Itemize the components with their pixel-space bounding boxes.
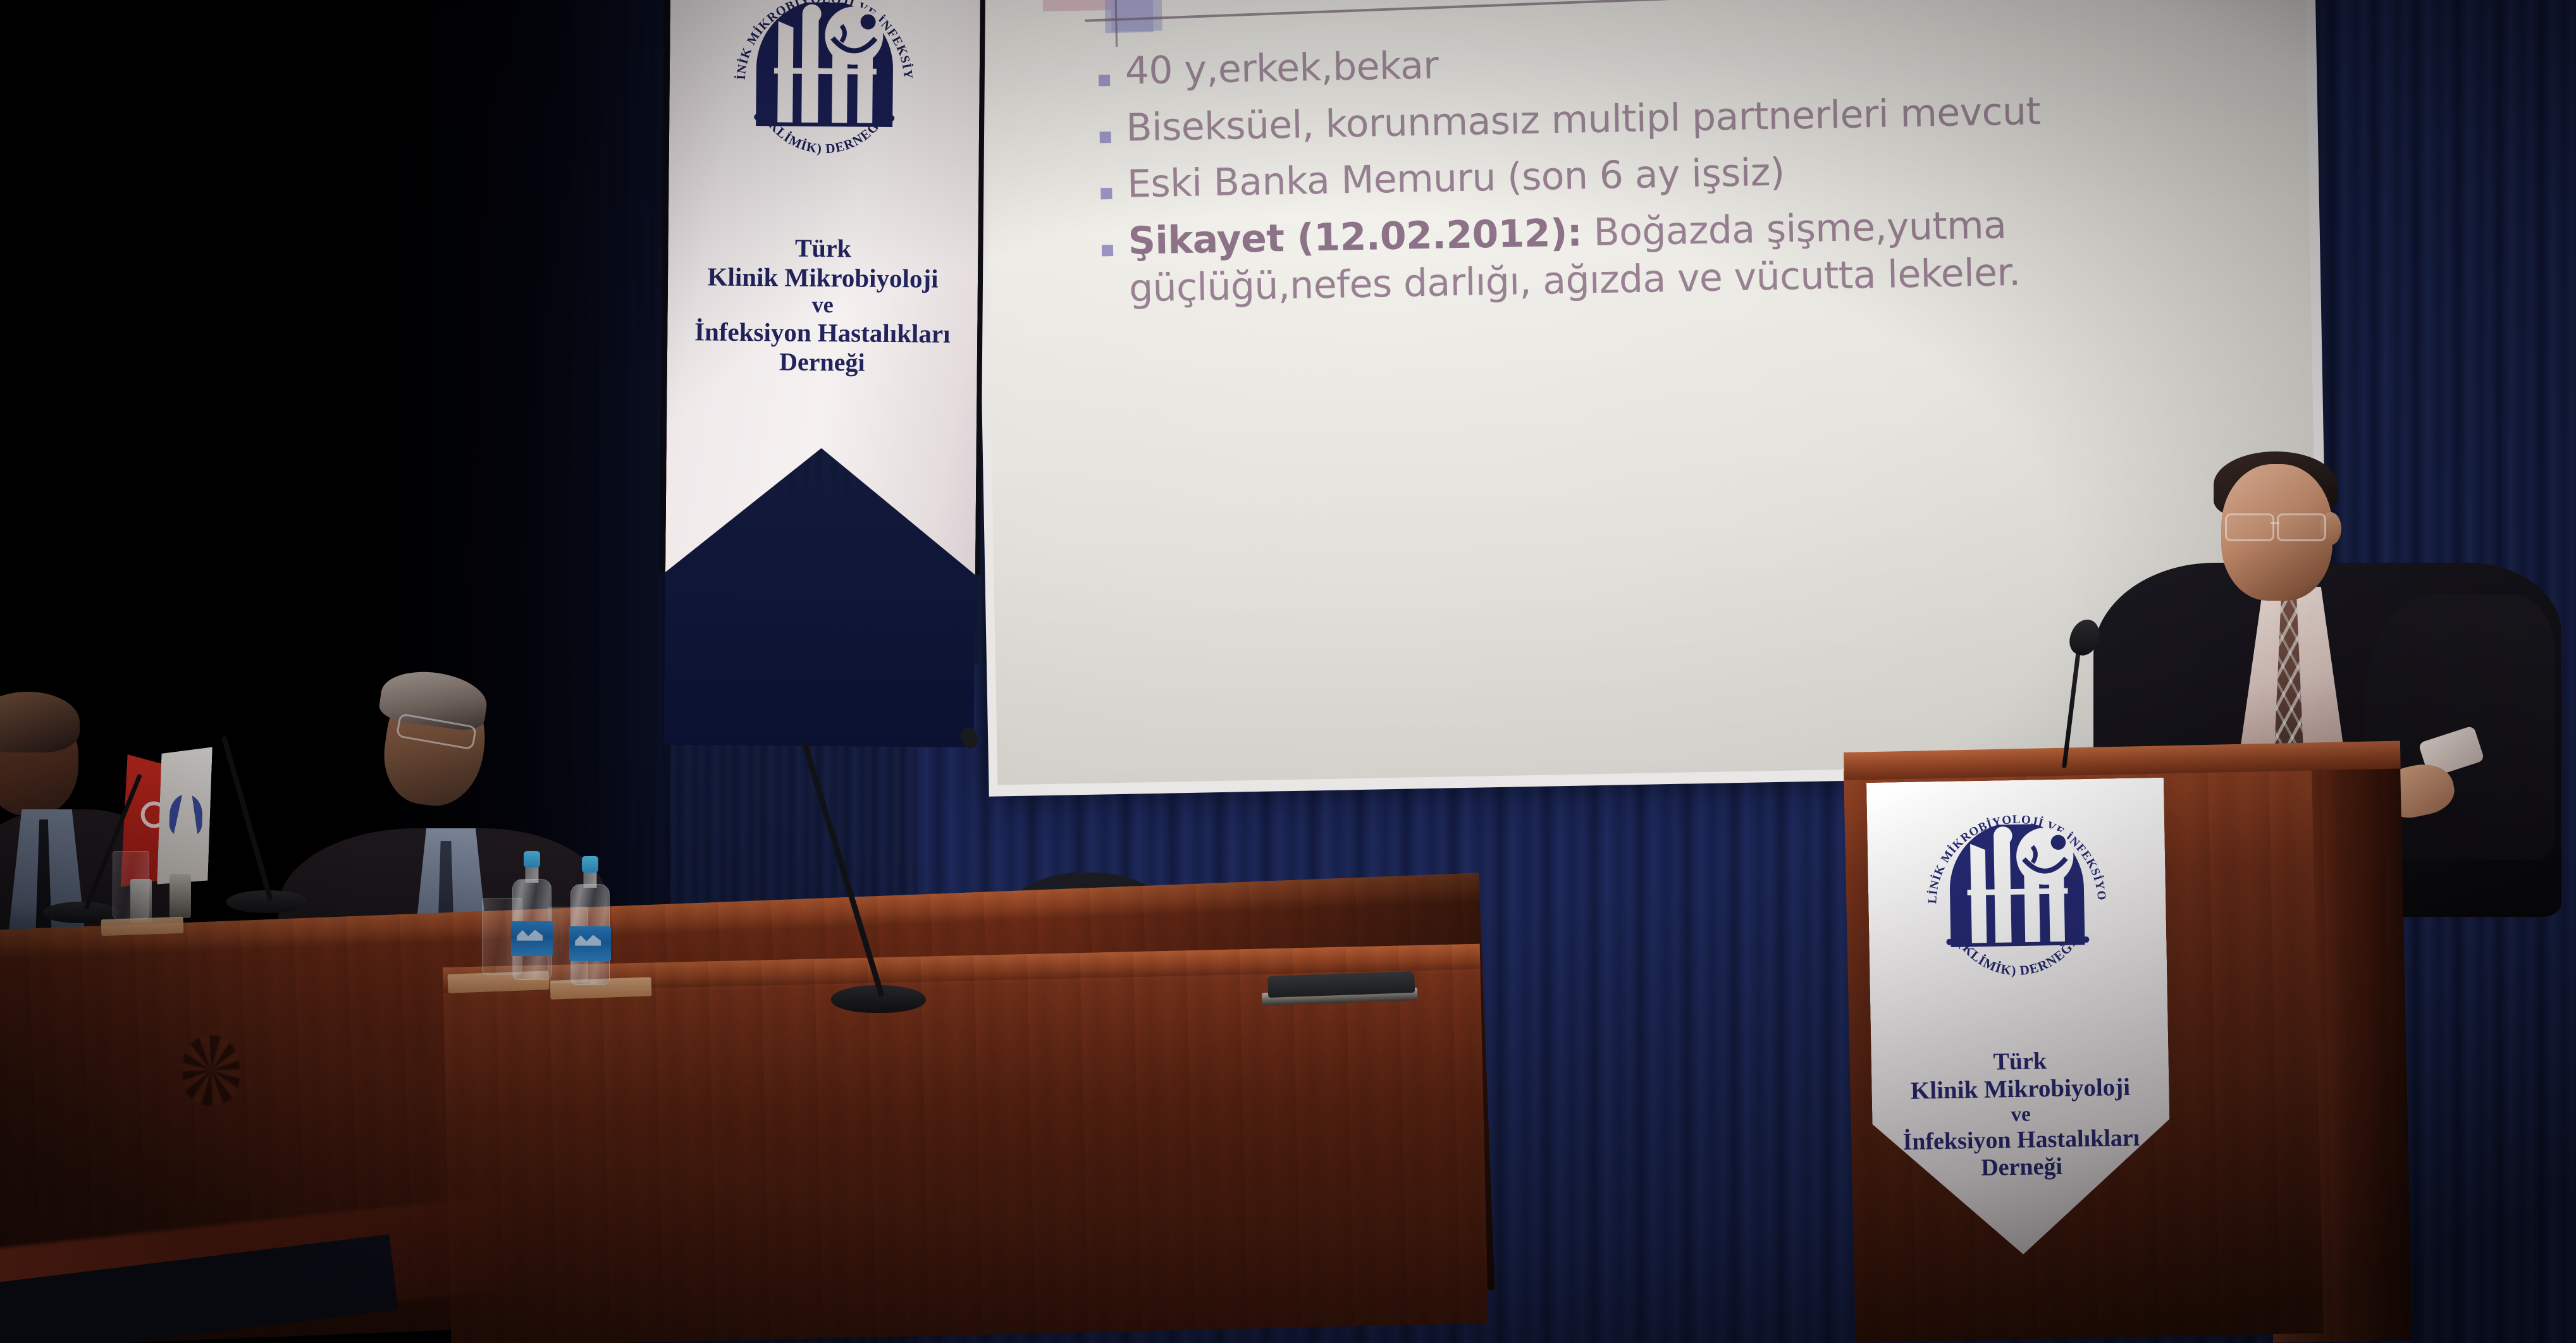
rollup-title-line-4: İnfeksiyon Hastalıkları [667,317,977,349]
closed-laptop[interactable] [1261,971,1419,1010]
speaker-glasses-icon [2225,513,2331,537]
slide-bullet-text-emphasized: Şikayet (12.02.2012): Boğazda şişme,yutm… [1128,197,2279,313]
bullet-square-icon [1099,75,1110,86]
klimik-flag-logo-icon [169,794,203,837]
slide-bullet-text: 40 y,erkek,bekar [1125,27,2275,95]
podium-title-line-4: İnfeksiyon Hastalıkları [1873,1124,2171,1156]
rollup-title-line-5: Derneği [667,346,977,378]
speaking-podium: TÜRK KLİNİK MİKROBİYOLOJİ VE İNFEKSİYON … [1844,752,2400,1343]
klimik-flag [157,745,213,886]
klimik-logo-circle: TÜRK KLİNİK MİKROBİYOLOJİ VE İNFEKSİYON … [729,0,920,178]
klimik-podium-logo: TÜRK KLİNİK MİKROBİYOLOJİ VE İNFEKSİYON … [1921,806,2114,999]
slide-deco-purple-block-b [1111,0,1162,32]
bullet-square-icon [1102,245,1113,256]
klimik-logo: TÜRK KLİNİK MİKROBİYOLOJİ VE İNFEKSİYON … [729,0,920,178]
presentation-hall-photo: 40 y,erkek,bekar Biseksüel, korunmasız m… [0,0,2576,1343]
water-bottle-1-label [511,921,553,955]
rollup-banner-title: Türk Klinik Mikrobiyoloji ve İnfeksiyon … [667,233,978,378]
klimik-logo-mark [752,2,897,137]
panel-microphone-center [215,873,342,917]
rollup-title-line-1: Türk [668,233,978,264]
slide-deco-pink-block [1042,0,1111,11]
slide-bullet-text: Biseksüel, korunmasız multipl partnerler… [1126,83,2276,152]
water-bottle-2 [570,884,610,985]
water-bottle-1-cap [524,851,540,868]
coaster-left [101,917,184,936]
slide-bullet-item: Şikayet (12.02.2012): Boğazda şişme,yutm… [1101,197,2279,314]
slide-bullet-list: 40 y,erkek,bekar Biseksüel, korunmasız m… [1098,27,2279,322]
slide-bullet-bold-prefix: Şikayet (12.02.2012): [1128,211,1582,263]
slide-bullet-item: Biseksüel, korunmasız multipl partnerler… [1099,83,2276,153]
klimik-rollup-banner: TÜRK KLİNİK MİKROBİYOLOJİ VE İNFEKSİYON … [664,0,981,747]
water-bottle-2-label [569,926,611,960]
slide-decoration [1037,0,1266,49]
water-bottle-1 [512,879,552,980]
klimik-podium-logo-mark [1944,823,2090,957]
panel-microphone-tall [816,961,980,1018]
panelist-left-hair [0,692,80,752]
podium-microphone [2037,623,2093,768]
rollup-title-line-3: ve [668,291,978,319]
klimik-podium-logo-mark-svg [1944,823,2090,957]
klimik-logo-mark-svg [752,2,897,137]
drinking-glass-1 [113,851,149,919]
slide-bullet-item: 40 y,erkek,bekar [1098,27,2275,96]
rollup-title-line-2: Klinik Mikrobiyoloji [668,261,978,293]
klimik-flag-base [169,874,191,918]
water-bottle-2-cap [582,856,598,873]
slide-bullet-item: Eski Banka Memuru (son 6 ay işsiz) [1100,140,2277,209]
speaker-glasses-right-lens [2277,513,2326,541]
klimik-podium-logo-circle: TÜRK KLİNİK MİKROBİYOLOJİ VE İNFEKSİYON … [1921,806,2114,999]
podium-title-line-2: Klinik Mikrobiyoloji [1871,1073,2169,1106]
bullet-square-icon [1100,188,1112,199]
speaker-glasses-left-lens [2225,513,2274,541]
slide-bullet-text: Eski Banka Memuru (son 6 ay işsiz) [1126,140,2277,209]
bullet-square-icon [1100,132,1111,143]
